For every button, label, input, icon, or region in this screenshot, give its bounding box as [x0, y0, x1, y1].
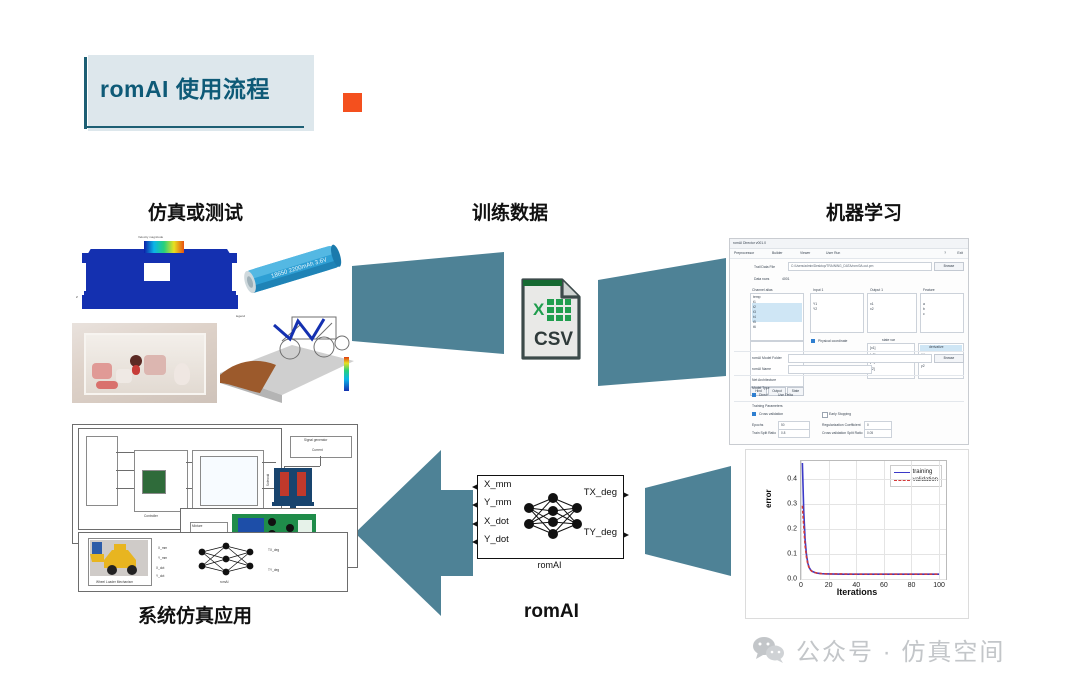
romai-inset-network [190, 540, 264, 580]
chart-plot-area: training validation 0204060801000.00.10.… [800, 460, 947, 580]
train-split-input[interactable]: 0.8 [778, 429, 810, 438]
panel-label-channel-alias: Channel alias [752, 288, 773, 292]
fea-colorbar [144, 241, 184, 253]
menu-viewer[interactable]: Viewer [800, 251, 810, 255]
model-name-input[interactable] [788, 365, 872, 374]
footer-system-simulation: 系统仿真应用 [138, 601, 252, 628]
simulation-imagery-group: Velocity magnitude Z legend [72, 233, 357, 405]
heading-simulation: 仿真或测试 [148, 198, 243, 225]
rows-value: 4001 [782, 277, 790, 281]
early-stopping-label: Early Stopping [829, 412, 851, 416]
window-menubar[interactable]: Preprocessor Builder Viewer User Run ? E… [730, 249, 968, 259]
model-folder-label: romAI Model Folder [752, 356, 782, 360]
nn-arrow-in-1 [472, 484, 478, 490]
nn-input-y-mm: Y_mm [484, 497, 511, 508]
photo-tank [84, 333, 206, 395]
cv-split-input[interactable]: 0.05 [864, 429, 892, 438]
channel-alias-selection[interactable] [752, 303, 802, 322]
footer-romai: romAI [524, 601, 579, 623]
file-label: Trail Data File [754, 265, 775, 269]
nn-arrow-in-4 [472, 539, 478, 545]
file-path-input[interactable]: C:/Users/admin/Desktop/TRAINING_DATA/rom… [788, 262, 932, 271]
regularization-label: Regularization Coefficient [822, 423, 861, 427]
physical-coordinate-label: Physical coordinate [818, 339, 847, 343]
nn-input-x-dot: X_dot [484, 516, 509, 527]
watermark: 公众号 · 仿真空间 [752, 632, 1005, 667]
slide-canvas: romAI 使用流程 仿真或测试 训练数据 机器学习 系统仿真应用 romAI [0, 0, 1066, 694]
chart-gridline-h [801, 579, 946, 580]
connector-ml-to-romai [645, 466, 731, 576]
regularization-value: 0 [867, 423, 869, 427]
nn-output-ty-deg: TY_deg [584, 527, 617, 538]
chart-ytick-label: 0.3 [787, 500, 797, 507]
nn-arrow-out-1 [623, 492, 629, 498]
chart-series-validation [802, 506, 939, 575]
net-architecture-label: Net Architecture [752, 378, 776, 382]
menu-exit[interactable]: Exit [957, 251, 963, 255]
title-left-rule [84, 57, 87, 129]
train-split-label: Train Split Ratio [752, 431, 776, 435]
chart-ytick-label: 0.2 [787, 525, 797, 532]
file-path-value: C:/Users/admin/Desktop/TRAINING_DATA/rom… [791, 264, 873, 268]
window-title: romAI Director v001.0 [733, 241, 766, 245]
nn-arrow-in-2 [472, 502, 478, 508]
label-signal-generator: Signal generator [304, 438, 327, 442]
system-simulation-diagram: Plant Controller Signal generator Curren… [72, 422, 354, 590]
cv-split-value: 0.05 [867, 431, 873, 435]
fea-caption: Velocity magnitude [138, 235, 163, 239]
page-title: romAI 使用流程 [100, 70, 330, 104]
wheel-loader-graphic [90, 540, 148, 576]
nn-arrow-out-2 [623, 532, 629, 538]
chart-ytick-label: 0.0 [787, 576, 797, 583]
model-type-delta-label: Use Delta [778, 393, 793, 397]
browse-button[interactable]: Browse [934, 262, 964, 271]
connector-data-to-ml [598, 258, 726, 388]
model-folder-browse-button[interactable]: Browse [934, 354, 964, 363]
nn-input-y-dot: Y_dot [484, 534, 509, 545]
epochs-label: Epochs [752, 423, 763, 427]
test-setup-photo [72, 323, 217, 403]
watermark-text: 公众号 · 仿真空间 [796, 632, 1005, 667]
neural-network-graphic [522, 490, 584, 542]
rows-label: Data rows [754, 277, 769, 281]
heading-training-data: 训练数据 [472, 198, 548, 225]
romai-block-caption: romAI [477, 560, 622, 570]
chart-y-axis-label: error [764, 489, 773, 508]
chart-series-layer [801, 461, 946, 579]
solenoid-graphic [270, 466, 316, 512]
channel-alias-list[interactable]: temp t1 t2 t3 t4 t5 t6 [750, 293, 804, 341]
chart-series-training [802, 463, 939, 574]
cad-vehicle-image [220, 295, 360, 405]
input-panel[interactable]: Input 1 Y1 Y2 [810, 293, 864, 333]
state-var-label: state var [882, 338, 895, 342]
label-solenoid: Solenoid [266, 474, 270, 486]
battery-cell-image: 18650 2200mAh 3.6V [232, 238, 350, 300]
menu-user-run[interactable]: User Run [826, 251, 840, 255]
accent-square [343, 93, 362, 112]
arrow-romai-to-system [355, 450, 473, 616]
epochs-value: 50 [781, 423, 785, 427]
early-stopping-checkbox[interactable] [822, 412, 828, 418]
heading-machine-learning: 机器学习 [826, 198, 902, 225]
training-error-chart: training validation 0204060801000.00.10.… [745, 449, 969, 619]
menu-preprocessor[interactable]: Preprocessor [734, 251, 754, 255]
physical-coordinate-checkbox[interactable] [811, 339, 815, 343]
cv-split-label: Cross validation Split Ratio [822, 431, 863, 435]
csv-sheet-mark: X [533, 300, 545, 319]
menu-builder[interactable]: Builder [772, 251, 783, 255]
wechat-icon [752, 636, 786, 664]
title-bottom-rule [84, 126, 304, 128]
csv-file-icon: X CSV [520, 277, 582, 361]
derivative-label: derivative [929, 345, 944, 349]
romai-director-window[interactable]: romAI Director v001.0 Preprocessor Build… [729, 238, 969, 445]
connector-sim-to-data [352, 252, 504, 387]
output-panel[interactable]: Output 1 x1 x2 [867, 293, 917, 333]
model-name-label: romAI Name [752, 367, 771, 371]
feature-panel-label: Feature [923, 288, 935, 292]
output-panel-label: Output 1 [870, 288, 883, 292]
model-type-label: Model Type [752, 386, 769, 390]
train-split-value: 0.8 [781, 431, 785, 435]
nn-output-tx-deg: TX_deg [584, 487, 617, 498]
model-type-direct-label: Direct [759, 393, 768, 397]
chart-x-axis-label: Iterations [746, 587, 968, 597]
romai-block: X_mm Y_mm X_dot Y_dot TX_deg TY_deg [477, 475, 624, 559]
label-wheel-loader: Wheel Loader Mechanism [96, 580, 133, 584]
chart-ytick-label: 0.1 [787, 550, 797, 557]
label-romai-inset: romAI [220, 580, 229, 584]
cross-validation-checkbox[interactable] [752, 412, 756, 416]
cross-validation-label: Cross validation [759, 412, 783, 416]
training-params-label: Training Parameters [752, 404, 783, 408]
nn-input-x-mm: X_mm [484, 479, 511, 490]
model-type-direct-radio[interactable] [752, 393, 756, 397]
input-panel-label: Input 1 [813, 288, 823, 292]
feature-panel[interactable]: Feature a b c [920, 293, 964, 333]
menu-help[interactable]: ? [944, 251, 946, 255]
nn-arrow-in-3 [472, 521, 478, 527]
label-current: Current [312, 448, 323, 452]
chart-ytick-label: 0.4 [787, 475, 797, 482]
model-folder-input[interactable] [788, 354, 932, 363]
csv-label: CSV [534, 329, 573, 350]
window-titlebar: romAI Director v001.0 [730, 239, 968, 249]
